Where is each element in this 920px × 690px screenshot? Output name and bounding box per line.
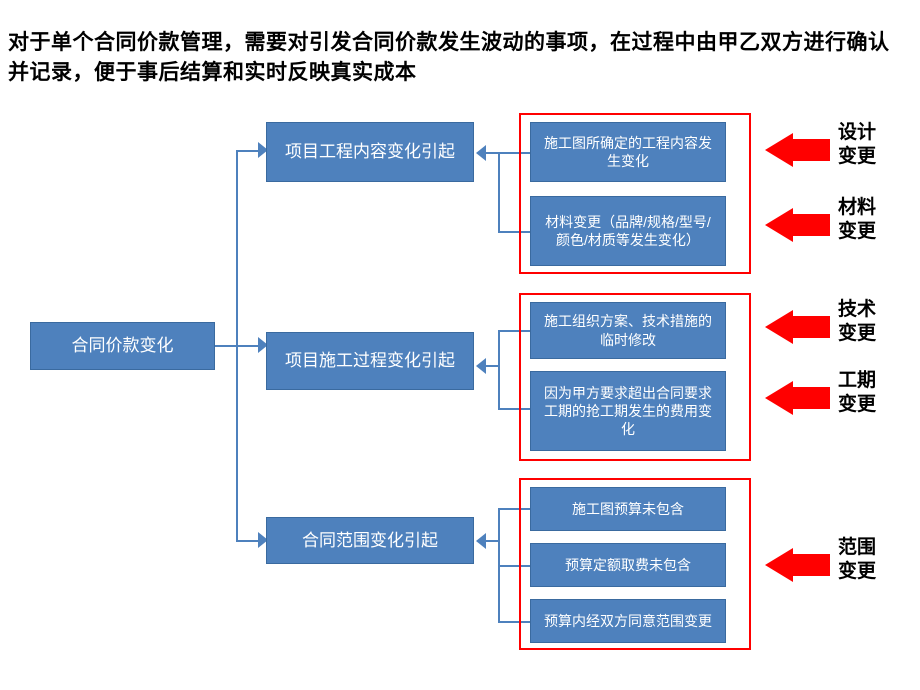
root-node: 合同价款变化	[30, 322, 215, 370]
leaf-node-3-2: 预算定额取费未包含	[530, 543, 726, 587]
branch-node-1: 项目工程内容变化引起	[266, 122, 474, 182]
callout-arrow-design-change	[765, 133, 830, 167]
root-trunk-horizontal	[215, 345, 237, 347]
group-3-arrow	[474, 533, 488, 549]
leaf-node-1-2: 材料变更（品牌/规格/型号/颜色/材质等发生变化）	[530, 196, 726, 266]
group-3-to-branch	[486, 540, 500, 542]
leaf-node-2-2: 因为甲方要求超出合同要求工期的抢工期发生的费用变化	[530, 371, 726, 451]
callout-label-technical-change: 技术 变更	[838, 298, 876, 346]
callout-label-material-change: 材料 变更	[838, 196, 876, 244]
group-1-arrow	[474, 145, 488, 161]
callout-label-schedule-change: 工期 变更	[838, 369, 876, 417]
root-node-label: 合同价款变化	[72, 335, 174, 356]
leaf-node-3-2-label: 预算定额取费未包含	[565, 556, 691, 574]
leaf-node-1-1: 施工图所确定的工程内容发生变化	[530, 122, 726, 182]
callout-label-scope-change: 范围 变更	[838, 536, 876, 584]
group-2-mid-vertical	[498, 330, 500, 367]
leaf-node-3-3: 预算内经双方同意范围变更	[530, 599, 726, 643]
leaf-node-3-1-label: 施工图预算未包含	[572, 500, 684, 518]
branch-node-2: 项目施工过程变化引起	[266, 332, 474, 390]
slide-canvas: 对于单个合同价款管理，需要对引发合同价款发生波动的事项，在过程中由甲乙双方进行确…	[0, 0, 920, 690]
callout-label-design-change: 设计 变更	[838, 121, 876, 169]
leaf-node-3-3-label: 预算内经双方同意范围变更	[544, 612, 712, 630]
leaf-node-1-1-label: 施工图所确定的工程内容发生变化	[539, 134, 717, 170]
callout-arrow-scope-change	[765, 548, 830, 582]
callout-arrow-material-change	[765, 208, 830, 242]
group-2-arrow	[474, 358, 488, 374]
leaf-node-3-1: 施工图预算未包含	[530, 487, 726, 531]
branch-node-2-label: 项目施工过程变化引起	[285, 350, 455, 371]
branch-node-1-label: 项目工程内容变化引起	[285, 141, 455, 162]
branch-node-3: 合同范围变化引起	[266, 517, 474, 564]
branch-node-3-label: 合同范围变化引起	[302, 530, 438, 551]
group-1-spine	[498, 152, 500, 232]
callout-arrow-technical-change	[765, 310, 830, 344]
group-1-to-branch	[486, 152, 500, 154]
callout-arrow-schedule-change	[765, 381, 830, 415]
leaf-node-2-1: 施工组织方案、技术措施的临时修改	[530, 302, 726, 359]
leaf-node-2-1-label: 施工组织方案、技术措施的临时修改	[539, 312, 717, 348]
page-title: 对于单个合同价款管理，需要对引发合同价款发生波动的事项，在过程中由甲乙双方进行确…	[8, 28, 898, 89]
leaf-node-2-2-label: 因为甲方要求超出合同要求工期的抢工期发生的费用变化	[539, 384, 717, 439]
leaf-node-1-2-label: 材料变更（品牌/规格/型号/颜色/材质等发生变化）	[539, 213, 717, 249]
